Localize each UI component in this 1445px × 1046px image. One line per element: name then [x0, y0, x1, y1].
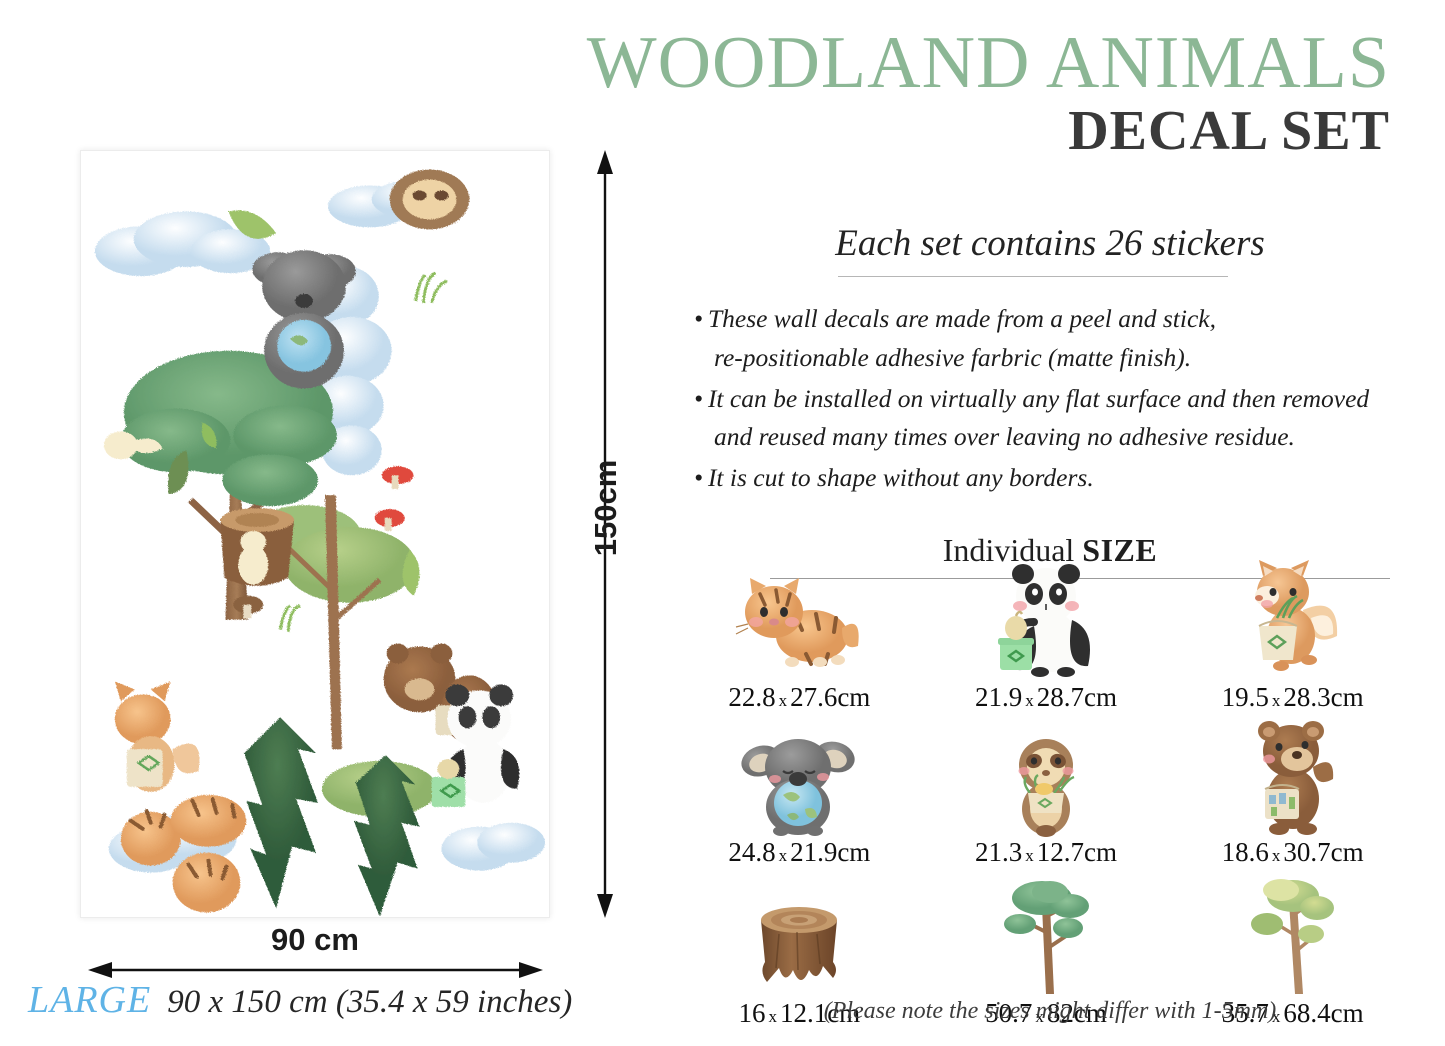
bullet-dot: •	[694, 463, 703, 492]
bullet-line-1: It can be installed on virtually any fla…	[708, 384, 1369, 413]
size-disclaimer-note: (Please note the sizes might differ with…	[690, 998, 1410, 1025]
size-x: x	[1272, 691, 1281, 710]
size-x: x	[1025, 691, 1034, 710]
decal-sheet-preview	[80, 150, 550, 918]
size-label: 19.5x28.3cm	[1222, 684, 1364, 711]
page-title: WOODLAND ANIMALS	[500, 28, 1390, 99]
page-subtitle: DECAL SET	[500, 103, 1390, 160]
bear-icon	[1239, 725, 1347, 837]
fox-icon	[1237, 560, 1349, 678]
size-x: x	[1272, 846, 1281, 865]
vertical-dimension: 150cm	[585, 150, 625, 918]
tree-stump-icon	[739, 880, 859, 998]
birch-tree-icon	[1241, 880, 1345, 998]
list-item: •These wall decals are made from a peel …	[694, 300, 1406, 378]
contains-heading: Each set contains 26 stickers	[690, 222, 1410, 265]
bullet-line-1: These wall decals are made from a peel a…	[708, 304, 1216, 333]
list-item: •It can be installed on virtually any fl…	[694, 380, 1406, 458]
size-label: 21.9x28.7cm	[975, 684, 1117, 711]
tiger-icon	[734, 560, 864, 678]
size-dimensions-label: 90 x 150 cm (35.4 x 59 inches)	[167, 984, 572, 1021]
fox-shape	[115, 681, 200, 792]
size-item-fox: 19.5x28.3cm	[1169, 560, 1416, 711]
size-item-panda: 21.9x28.7cm	[923, 560, 1170, 711]
features-list: •These wall decals are made from a peel …	[694, 300, 1406, 500]
bullet-line-2: and reused many times over leaving no ad…	[694, 418, 1406, 457]
size-item-tiger: 22.8x27.6cm	[676, 560, 923, 711]
size-label: 21.3x12.7cm	[975, 839, 1117, 866]
decal-sheet	[80, 150, 550, 918]
size-height: 12.7cm	[1037, 837, 1117, 867]
size-x: x	[779, 846, 788, 865]
large-tree-icon	[992, 880, 1100, 998]
size-height: 30.7cm	[1283, 837, 1363, 867]
size-width: 21.9	[975, 682, 1022, 712]
sloth-shape	[390, 170, 470, 230]
size-height: 27.6cm	[790, 682, 870, 712]
size-height: 28.3cm	[1283, 682, 1363, 712]
size-label: 24.8x21.9cm	[728, 839, 870, 866]
size-width: 22.8	[728, 682, 775, 712]
title-block: WOODLAND ANIMALS DECAL SET	[500, 28, 1390, 160]
koala-icon	[739, 725, 859, 837]
bullet-line-2: re-positionable adhesive farbric (matte …	[694, 339, 1406, 378]
bullet-dot: •	[694, 304, 703, 333]
size-height: 28.7cm	[1037, 682, 1117, 712]
list-item: •It is cut to shape without any borders.	[694, 459, 1406, 498]
size-x: x	[1025, 846, 1034, 865]
size-item-bear: 18.6x30.7cm	[1169, 725, 1416, 866]
size-variant-label: LARGE	[28, 978, 151, 1022]
size-width: 18.6	[1222, 837, 1269, 867]
size-label: 18.6x30.7cm	[1222, 839, 1364, 866]
overall-size-line: LARGE 90 x 150 cm (35.4 x 59 inches)	[28, 978, 572, 1022]
size-item-koala: 24.8x21.9cm	[676, 725, 923, 866]
size-width: 19.5	[1222, 682, 1269, 712]
horizontal-dimension-label: 90 cm	[80, 922, 550, 958]
horizontal-dimension: 90 cm	[80, 930, 550, 975]
individual-size-grid: 22.8x27.6cm	[676, 560, 1416, 1027]
size-x: x	[779, 691, 788, 710]
contains-divider	[838, 276, 1228, 277]
size-height: 21.9cm	[790, 837, 870, 867]
sloth-icon	[1004, 725, 1088, 837]
bullet-dot: •	[694, 384, 703, 413]
size-label: 22.8x27.6cm	[728, 684, 870, 711]
vertical-dimension-label: 150cm	[588, 453, 624, 563]
bullet-line-1: It is cut to shape without any borders.	[708, 463, 1094, 492]
size-width: 24.8	[728, 837, 775, 867]
size-item-sloth: 21.3x12.7cm	[923, 725, 1170, 866]
size-width: 21.3	[975, 837, 1022, 867]
panda-icon	[990, 560, 1102, 678]
